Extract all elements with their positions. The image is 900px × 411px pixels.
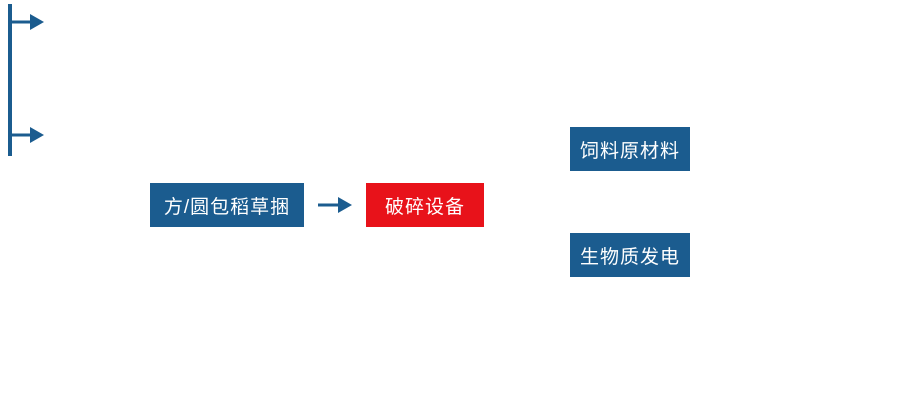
branch-arrow-top-icon — [10, 14, 44, 30]
diagram-canvas: 方/圆包稻草捆 破碎设备 饲料原材料 生物质发电 — [0, 0, 900, 411]
node-crushing-equipment: 破碎设备 — [366, 183, 484, 227]
arrow-right-icon — [316, 190, 354, 220]
branch-connector — [0, 0, 60, 160]
node-feed-raw-material: 饲料原材料 — [570, 127, 690, 171]
node-output-1-label: 饲料原材料 — [580, 136, 680, 163]
node-input-straw-bale: 方/圆包稻草捆 — [150, 183, 304, 227]
branch-arrow-bottom-icon — [10, 127, 44, 143]
node-input-label: 方/圆包稻草捆 — [164, 192, 290, 219]
node-biomass-power-generation: 生物质发电 — [570, 233, 690, 277]
node-process-label: 破碎设备 — [385, 192, 465, 219]
node-output-2-label: 生物质发电 — [580, 242, 680, 269]
